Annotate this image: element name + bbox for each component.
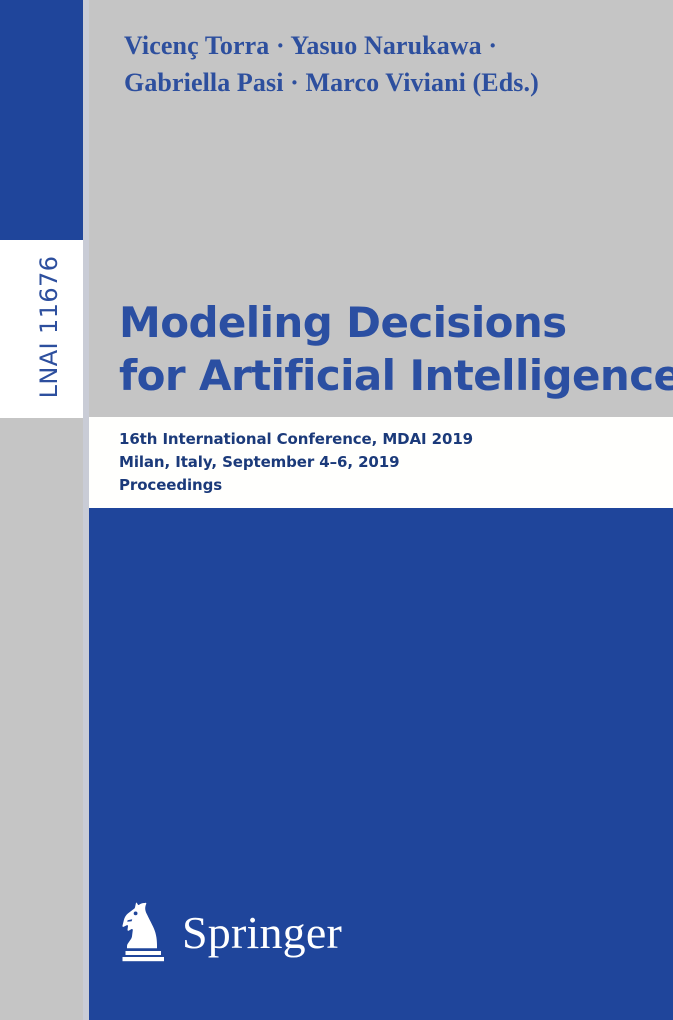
- cover-left-gray-strip: [0, 418, 83, 1020]
- subtitle-line-proceedings: Proceedings: [119, 474, 639, 497]
- editors-list: Vicenç Torra · Yasuo Narukawa · Gabriell…: [124, 28, 644, 102]
- book-cover: Vicenç Torra · Yasuo Narukawa · Gabriell…: [0, 0, 673, 1020]
- cover-top-left-blue-block: [0, 0, 89, 240]
- editors-line-1: Vicenç Torra · Yasuo Narukawa ·: [124, 28, 644, 65]
- publisher-name: Springer: [182, 910, 342, 956]
- spine-seam-divider: [83, 0, 89, 1020]
- book-subtitle: 16th International Conference, MDAI 2019…: [119, 428, 639, 496]
- series-number-label: LNAI 11676: [35, 247, 63, 407]
- book-title: Modeling Decisions for Artificial Intell…: [119, 296, 659, 403]
- springer-knight-icon: [118, 899, 172, 963]
- book-title-line-1: Modeling Decisions: [119, 296, 659, 349]
- editors-line-2: Gabriella Pasi · Marco Viviani (Eds.): [124, 65, 644, 102]
- book-title-line-2: for Artificial Intelligence: [119, 349, 659, 402]
- subtitle-line-location-date: Milan, Italy, September 4–6, 2019: [119, 451, 639, 474]
- subtitle-line-conference: 16th International Conference, MDAI 2019: [119, 428, 639, 451]
- publisher-logo: Springer: [118, 899, 342, 963]
